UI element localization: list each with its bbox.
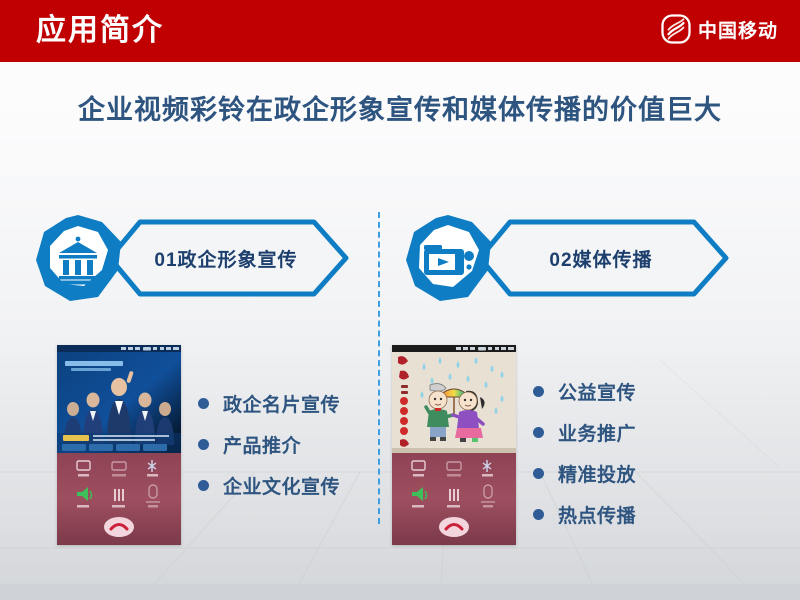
list-item: 精准投放 bbox=[533, 460, 636, 487]
section-label-pill-02[interactable]: 02媒体传播 bbox=[472, 218, 730, 298]
phone-screenshot-public-service bbox=[392, 345, 516, 545]
bullet-list-01: 政企名片宣传 产品推介 企业文化宣传 bbox=[198, 390, 340, 513]
section-divider bbox=[378, 212, 380, 524]
list-item: 产品推介 bbox=[198, 431, 340, 458]
bullet-dot-icon bbox=[533, 468, 544, 479]
bullet-label: 产品推介 bbox=[223, 431, 301, 458]
china-mobile-logo-icon bbox=[661, 14, 691, 44]
list-item: 公益宣传 bbox=[533, 378, 636, 405]
section-badge-01[interactable]: 01政企形象宣传 bbox=[32, 212, 350, 304]
section-label-pill-01[interactable]: 01政企形象宣传 bbox=[102, 218, 350, 298]
phone-screenshot-corporate bbox=[57, 345, 181, 545]
bullet-dot-icon bbox=[533, 427, 544, 438]
list-item: 企业文化宣传 bbox=[198, 472, 340, 499]
section-badge-02[interactable]: 02媒体传播 bbox=[402, 212, 730, 304]
bullet-dot-icon bbox=[533, 509, 544, 520]
bullet-list-02: 公益宣传 业务推广 精准投放 热点传播 bbox=[533, 378, 636, 542]
slide-canvas: 应用简介 中国移动 企业视频彩铃在政企形象宣传和媒体传播的价值巨大 bbox=[0, 0, 800, 600]
section-label-text-01: 01政企形象宣传 bbox=[154, 245, 297, 272]
bullet-label: 政企名片宣传 bbox=[223, 390, 340, 417]
brand-lockup: 中国移动 bbox=[661, 14, 778, 44]
brand-name: 中国移动 bbox=[698, 16, 778, 43]
bullet-label: 业务推广 bbox=[558, 419, 636, 446]
video-camera-icon bbox=[402, 212, 494, 304]
list-item: 政企名片宣传 bbox=[198, 390, 340, 417]
bullet-dot-icon bbox=[198, 480, 209, 491]
bullet-label: 企业文化宣传 bbox=[223, 472, 340, 499]
bullet-dot-icon bbox=[198, 439, 209, 450]
list-item: 业务推广 bbox=[533, 419, 636, 446]
bank-building-icon bbox=[32, 212, 124, 304]
main-headline: 企业视频彩铃在政企形象宣传和媒体传播的价值巨大 bbox=[0, 88, 800, 127]
bottom-strip bbox=[0, 584, 800, 600]
page-title: 应用简介 bbox=[36, 12, 164, 50]
section-label-text-02: 02媒体传播 bbox=[549, 245, 652, 272]
bullet-dot-icon bbox=[198, 398, 209, 409]
bullet-label: 公益宣传 bbox=[558, 378, 636, 405]
bullet-dot-icon bbox=[533, 386, 544, 397]
list-item: 热点传播 bbox=[533, 501, 636, 528]
header-bar: 应用简介 中国移动 bbox=[0, 0, 800, 62]
bullet-label: 精准投放 bbox=[558, 460, 636, 487]
bullet-label: 热点传播 bbox=[558, 501, 636, 528]
